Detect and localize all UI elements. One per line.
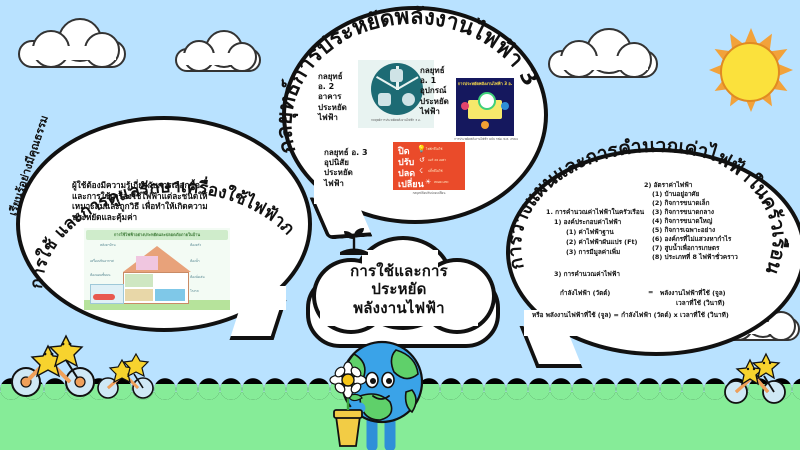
house-room-attic bbox=[136, 256, 158, 270]
wheel-caption: กลยุทธ์การประหยัดพลังงานไฟฟ้า 3 อ. bbox=[358, 119, 434, 122]
left-bubble-tail-cover bbox=[224, 286, 286, 310]
strategy-3-line-1: อุปนิสัย bbox=[324, 158, 394, 168]
star-on-bicycle-left-small bbox=[96, 352, 156, 402]
red-action-note-3: หลอด LED bbox=[434, 180, 448, 185]
center-topic-text: การใช้และการ ประหยัด พลังงานไฟฟ้า bbox=[306, 262, 492, 317]
navy-poster-heading: การประหยัดพลังงานไฟฟ้า 3 อ. bbox=[456, 80, 514, 87]
right-section3-heading: 3) การคำนวณค่าไฟฟ้า bbox=[554, 269, 620, 279]
right-formula1-equals: = bbox=[648, 288, 653, 296]
sun-icon bbox=[706, 28, 790, 112]
right-section1-item-0: (1) ค่าไฟฟ้าฐาน bbox=[566, 227, 614, 237]
strategy-1-line-0: กลยุทธ์ bbox=[420, 66, 462, 76]
right-formula2: หรือ พลังงานไฟฟ้าที่ใช้ (จูล) = กำลังไฟฟ… bbox=[532, 310, 729, 320]
right-section1-item-2: (3) การมีมูลค่าเพิ่ม bbox=[566, 247, 620, 257]
strategy-2-line-3: ประหยัด bbox=[318, 103, 358, 113]
red-action-note-0: ไฟฟ้าที่ไม่ใช้ bbox=[426, 147, 442, 152]
strategy-2-line-2: อาคาร bbox=[318, 92, 358, 102]
sprout-in-soil-icon bbox=[336, 226, 372, 256]
strategy-3-line-0: กลยุทธ์ อ. 3 bbox=[324, 148, 394, 158]
right-formula1-denominator: เวลาที่ใช้ (วินาที) bbox=[676, 298, 725, 308]
house-appliances-diagram: การใช้ไฟฟ้าอย่างประหยัดและปลอดภัยภายในบ้… bbox=[84, 228, 230, 310]
house-room-living bbox=[125, 289, 153, 301]
house-label-0: หลังคาบ้าน bbox=[100, 244, 116, 248]
star-on-bicycle-right bbox=[722, 352, 790, 406]
house-car-icon bbox=[93, 294, 115, 300]
left-body-line-1: และการใช้เครื่องใช้ไฟฟ้าแต่ละชนิดให้ bbox=[72, 191, 262, 202]
led-bulb-icon: ☀ bbox=[425, 178, 431, 186]
left-body-line-2: เหมาะสมและถูกวิธี เพื่อทำให้เกิดความ bbox=[72, 201, 262, 212]
left-body-line-3: ประหยัดและคุ้มค่า bbox=[72, 212, 262, 223]
strategy-2-line-1: อ. 2 bbox=[318, 82, 358, 92]
red-action-label-3: เปลี่ยน bbox=[398, 177, 424, 190]
right-formula1-numerator: พลังงานไฟฟ้าที่ใช้ (จูล) bbox=[660, 288, 726, 298]
navy-poster-ring bbox=[478, 92, 496, 110]
house-banner-text: การใช้ไฟฟ้าอย่างประหยัดและปลอดภัยภายในบ้… bbox=[84, 231, 230, 238]
lightbulb-icon: 💡 bbox=[417, 145, 426, 153]
cloud-top-mid-left bbox=[175, 30, 261, 72]
house-room-laundry bbox=[155, 289, 185, 301]
center-line-2: พลังงานไฟฟ้า bbox=[306, 299, 492, 317]
red-action-note-2: ปลั๊กที่ไม่ใช้ bbox=[428, 169, 443, 174]
star-on-bicycle-left bbox=[8, 330, 104, 400]
left-body-line-0: ผู้ใช้ต้องมีความรู้เกี่ยวกับการเลือกซื้อ bbox=[72, 180, 262, 191]
right-section1-item-1: (2) ค่าไฟฟ้าผันแปร (Ft) bbox=[566, 237, 637, 247]
right-section1-subheading: 1) องค์ประกอบค่าไฟฟ้า bbox=[554, 217, 621, 227]
house-label-1: เครื่องปรับอากาศ bbox=[90, 260, 114, 264]
house-room-bath bbox=[155, 274, 185, 287]
red-panel-caption: กลยุทธ์ปิดปรับปลดเปลี่ยน bbox=[393, 191, 465, 196]
sun-core bbox=[720, 42, 780, 102]
thermostat-icon: ↺ bbox=[419, 156, 425, 164]
wheel-habit-icon bbox=[402, 93, 415, 106]
red-action-note-1: แอร์ 26 องศา bbox=[428, 158, 446, 163]
house-label-5: ห้องนั่งเล่น bbox=[190, 276, 205, 280]
right-formula1-left: กำลังไฟฟ้า (วัตต์) bbox=[560, 288, 610, 298]
cloud-top-right bbox=[548, 28, 658, 78]
plug-icon: ☇ bbox=[419, 167, 423, 175]
strategy-2-building: กลยุทธ์ อ. 2 อาคาร ประหยัด ไฟฟ้า bbox=[318, 72, 358, 123]
right-section2-item-7: (8) ประเภทที่ 8 ไฟฟ้าชั่วคราว bbox=[652, 252, 738, 262]
strategy-3-line-3: ไฟฟ้า bbox=[324, 179, 394, 189]
strategy-2-line-0: กลยุทธ์ bbox=[318, 72, 358, 82]
navy-poster-dot-1 bbox=[461, 102, 469, 110]
house-label-6: โรงรถ bbox=[190, 290, 199, 294]
four-action-red-panel: ปิด 💡 ไฟฟ้าที่ไม่ใช้ ปรับ ↺ แอร์ 26 องศา… bbox=[393, 142, 465, 190]
infographic-canvas: กลยุทธ์การประหยัดพลังงานไฟฟ้า 3 อ. กลยุท… bbox=[0, 0, 800, 450]
right-section1-heading: 1. การคำนวณค่าไฟฟ้าในครัวเรือน bbox=[546, 207, 644, 217]
strategy-2-line-4: ไฟฟ้า bbox=[318, 113, 358, 123]
center-line-1: ประหยัด bbox=[306, 280, 492, 298]
earth-character-with-flower bbox=[320, 338, 440, 450]
navy-poster-dot-3 bbox=[481, 121, 489, 129]
strategy-3-habit: กลยุทธ์ อ. 3 อุปนิสัย ประหยัด ไฟฟ้า bbox=[324, 148, 394, 189]
left-bubble-body: ผู้ใช้ต้องมีความรู้เกี่ยวกับการเลือกซื้อ… bbox=[72, 180, 262, 222]
wheel-appliance-icon bbox=[378, 93, 391, 106]
house-label-2: ห้องนอนชั้นบน bbox=[90, 274, 110, 278]
energy-saving-poster-image: การประหยัดพลังงานไฟฟ้า 3 อ. bbox=[456, 78, 514, 136]
cloud-top-left bbox=[18, 18, 126, 68]
navy-poster-dot-2 bbox=[501, 102, 509, 110]
house-label-4: ห้องน้ำ bbox=[190, 260, 200, 264]
house-label-3: ห้องครัว bbox=[190, 244, 201, 248]
center-line-0: การใช้และการ bbox=[306, 262, 492, 280]
house-room-kitchen bbox=[125, 274, 153, 287]
wheel-building-icon bbox=[390, 69, 403, 82]
strategy-3-line-2: ประหยัด bbox=[324, 168, 394, 178]
